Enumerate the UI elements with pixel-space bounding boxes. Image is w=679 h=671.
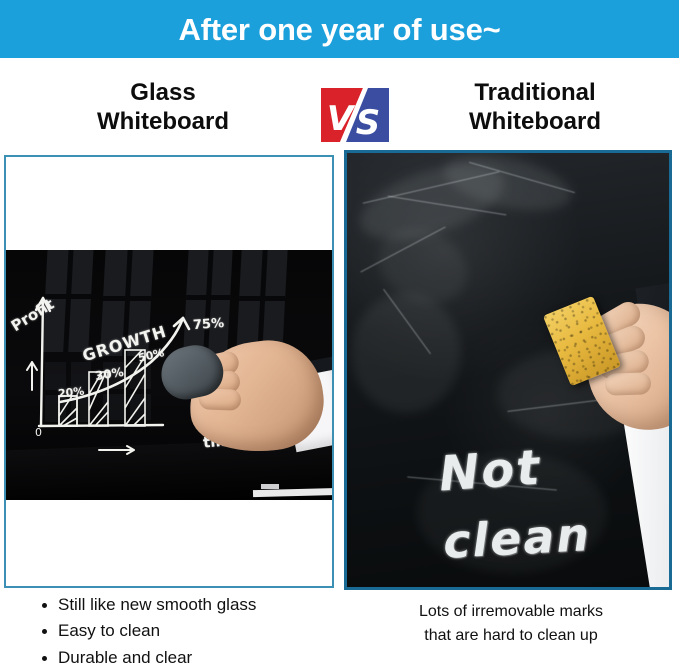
right-heading-line-1: Traditional [398, 78, 672, 107]
glass-whiteboard-photo: 0 Profit GROWTH 20% 30% 50% 75% time [4, 250, 334, 500]
list-item: Easy to clean [40, 618, 340, 644]
right-heading-line-2: Whiteboard [398, 107, 672, 136]
vs-right-letter: S [356, 103, 381, 143]
vs-left-letter: V [327, 99, 356, 139]
board-text-line-1: Not [437, 440, 543, 503]
right-column-heading: Traditional Whiteboard [398, 78, 672, 137]
board-text-line-2: clean [442, 507, 593, 569]
left-heading-line-1: Glass [8, 78, 318, 107]
right-caption-line-2: that are hard to clean up [356, 624, 666, 648]
left-heading-line-2: Whiteboard [8, 107, 318, 136]
finger [605, 372, 652, 396]
window-reflection [183, 250, 233, 358]
glass-whiteboard-benefits-list: Still like new smooth glass Easy to clea… [40, 592, 340, 671]
traditional-whiteboard-panel: Not clean [344, 150, 672, 590]
vs-badge: V S [318, 86, 392, 144]
vs-badge-icon: V S [318, 86, 392, 144]
traditional-whiteboard-photo: Not clean [347, 153, 669, 587]
banner-title: After one year of use~ [178, 14, 500, 45]
right-caption-line-1: Lots of irremovable marks [356, 600, 666, 624]
glass-whiteboard-panel: 0 Profit GROWTH 20% 30% 50% 75% time [4, 155, 334, 588]
chart-peak-label: 75% [193, 316, 225, 333]
list-item: Durable and clear [40, 645, 340, 671]
chart-origin-label: 0 [35, 426, 42, 439]
traditional-whiteboard-caption: Lots of irremovable marks that are hard … [356, 600, 666, 648]
list-item: Still like new smooth glass [40, 592, 340, 618]
chart-bar-label: 20% [57, 385, 85, 401]
desk-edge-highlight [261, 484, 279, 489]
page-banner: After one year of use~ [0, 0, 679, 58]
left-column-heading: Glass Whiteboard [8, 78, 318, 137]
chalk-smudge [351, 293, 461, 413]
